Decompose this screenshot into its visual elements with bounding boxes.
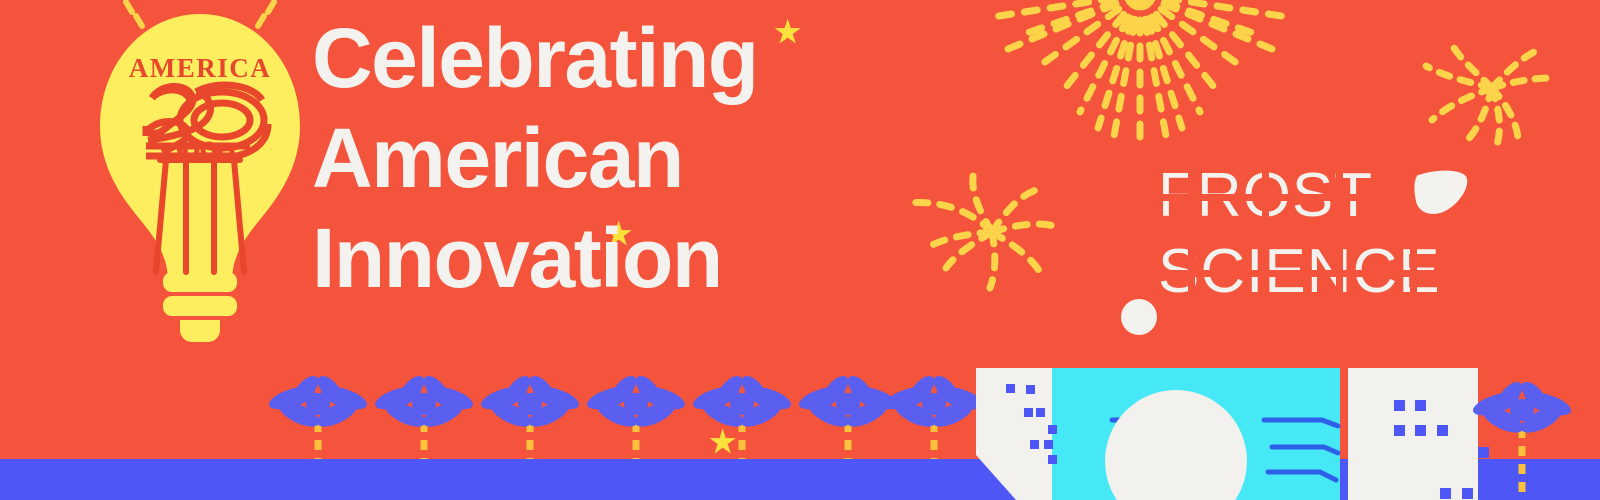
leaf-icon [1412,168,1471,216]
headline-line-2-text: American [312,111,683,205]
celebration-banner: AMERICA [0,0,1600,500]
headline-line-1-text: Celebrating [312,11,758,105]
headline-line-3-text: Innovation [312,211,722,305]
star-icon: ★ [774,20,800,46]
frost-wordmark-line1: FROST [1158,168,1373,230]
star-icon: ★ [709,430,735,456]
frost-wordmark-line2: SCIENCE [1158,237,1441,306]
frost-science-logo[interactable]: FROST SCIENCE [1158,168,1488,318]
frost-dot-icon [1121,299,1157,335]
headline-block: Celebrating ★ American ★ Innovation ★ [312,8,972,308]
headline-line-3: Innovation ★ [312,208,972,308]
headline-line-2: American ★ [312,108,972,208]
headline-line-1: Celebrating ★ [312,8,972,108]
